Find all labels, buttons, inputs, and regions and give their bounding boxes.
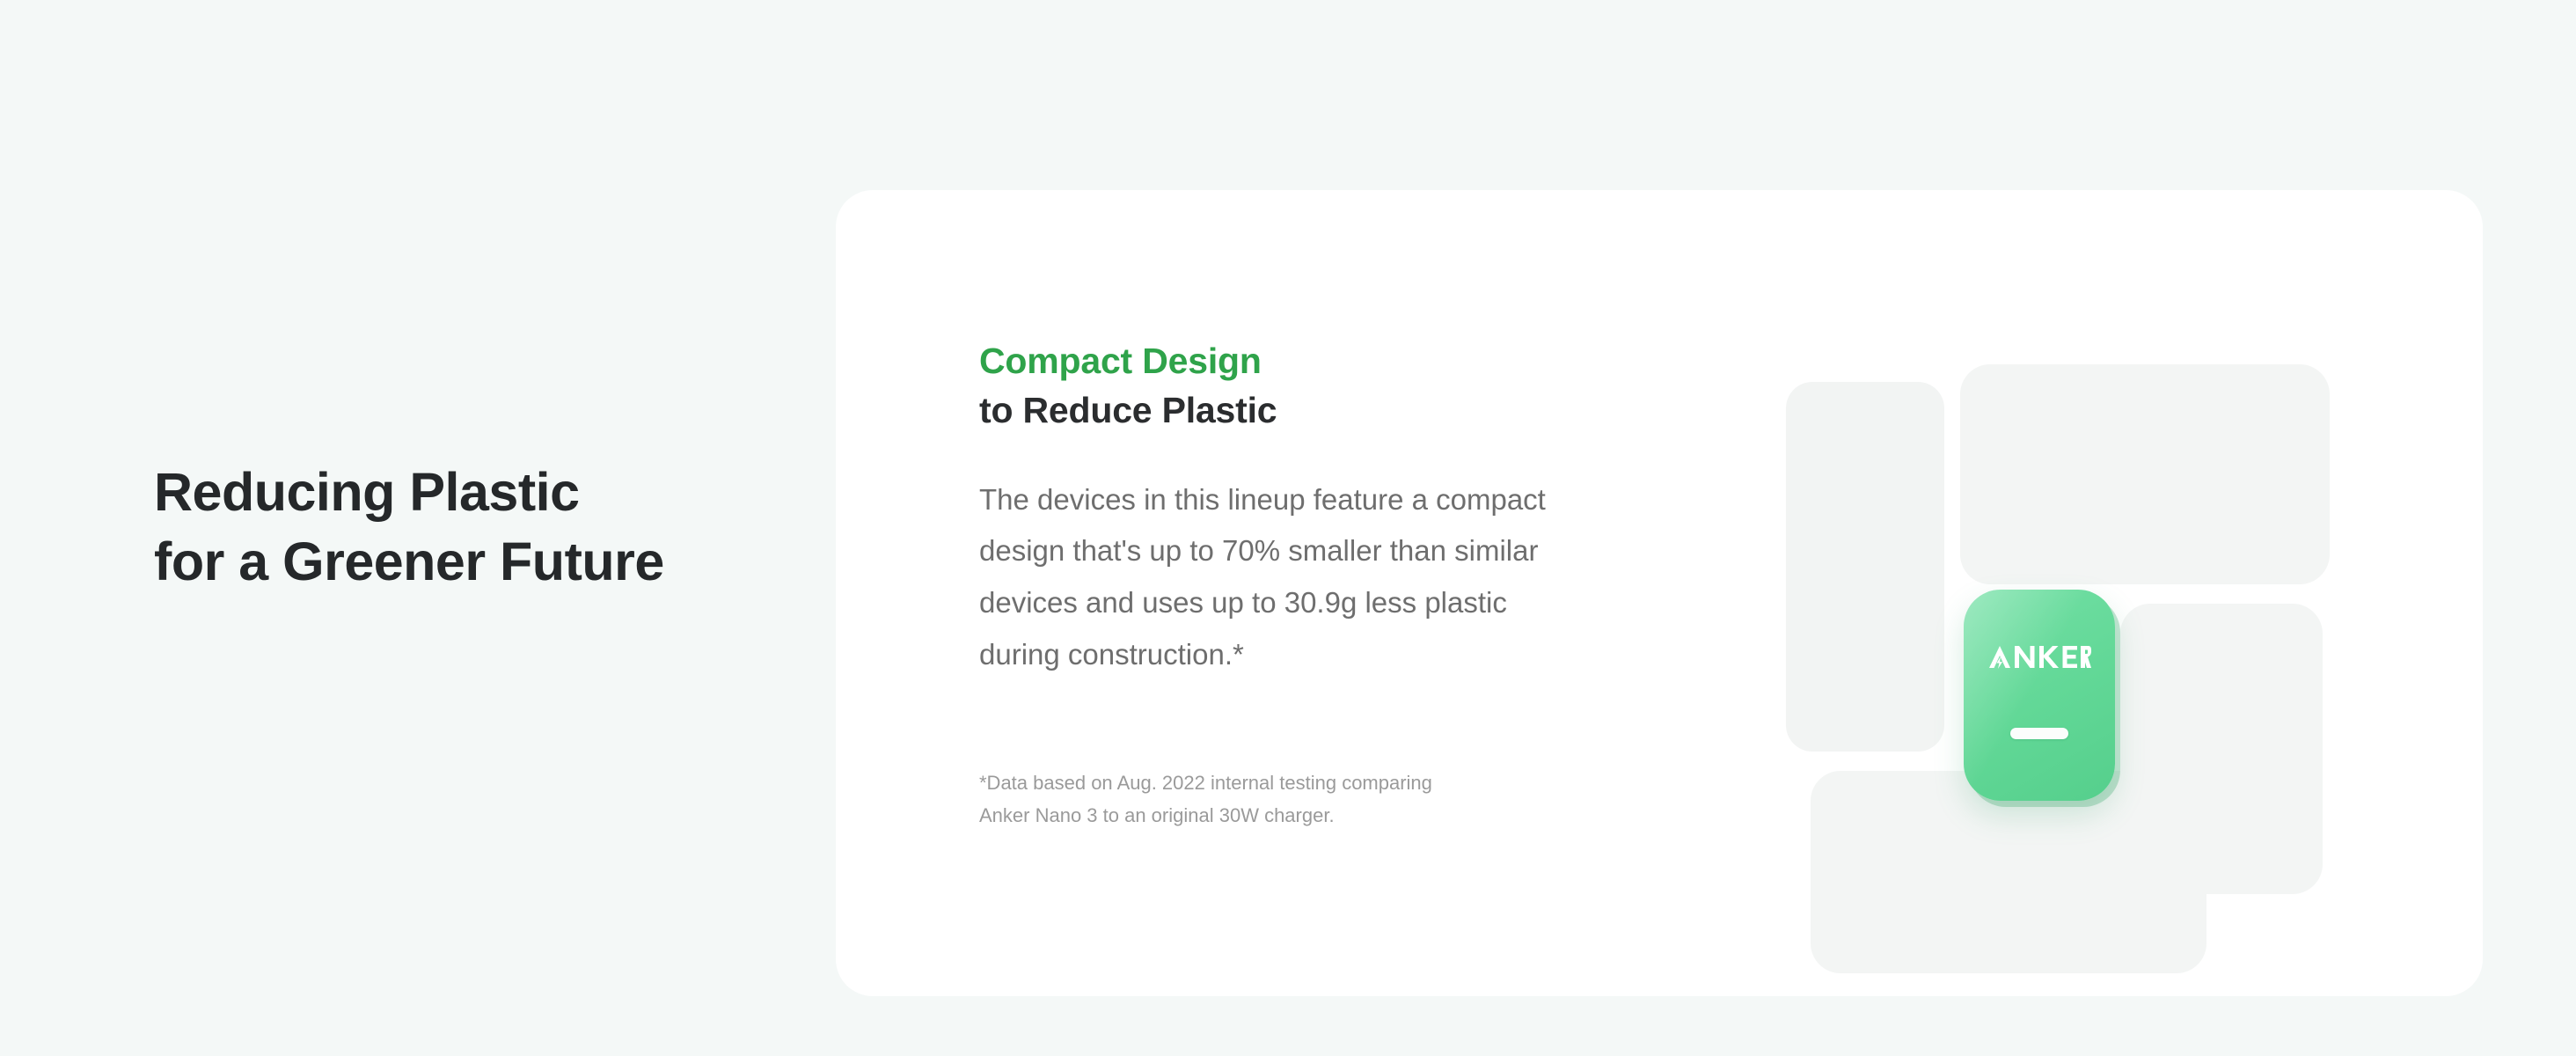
card-text-column: Compact Design to Reduce Plastic The dev… (979, 340, 1648, 832)
usb-c-port-icon (2010, 728, 2068, 739)
card-body-text: The devices in this lineup feature a com… (979, 474, 1635, 681)
ghost-charger-left (1786, 382, 1944, 752)
ghost-charger-bottom (1811, 771, 2206, 973)
ghost-charger-top (1960, 364, 2330, 584)
promo-banner: Reducing Plastic for a Greener Future Co… (0, 0, 2576, 1056)
card-eyebrow: Compact Design (979, 340, 1648, 382)
card-footnote: *Data based on Aug. 2022 internal testin… (979, 766, 1613, 832)
anker-logo-icon (1987, 642, 2091, 672)
page-title: Reducing Plastic for a Greener Future (154, 458, 787, 598)
anker-charger (1964, 590, 2115, 801)
feature-card: Compact Design to Reduce Plastic The dev… (836, 190, 2483, 996)
product-illustration (1733, 340, 2331, 868)
card-subhead: to Reduce Plastic (979, 389, 1648, 431)
